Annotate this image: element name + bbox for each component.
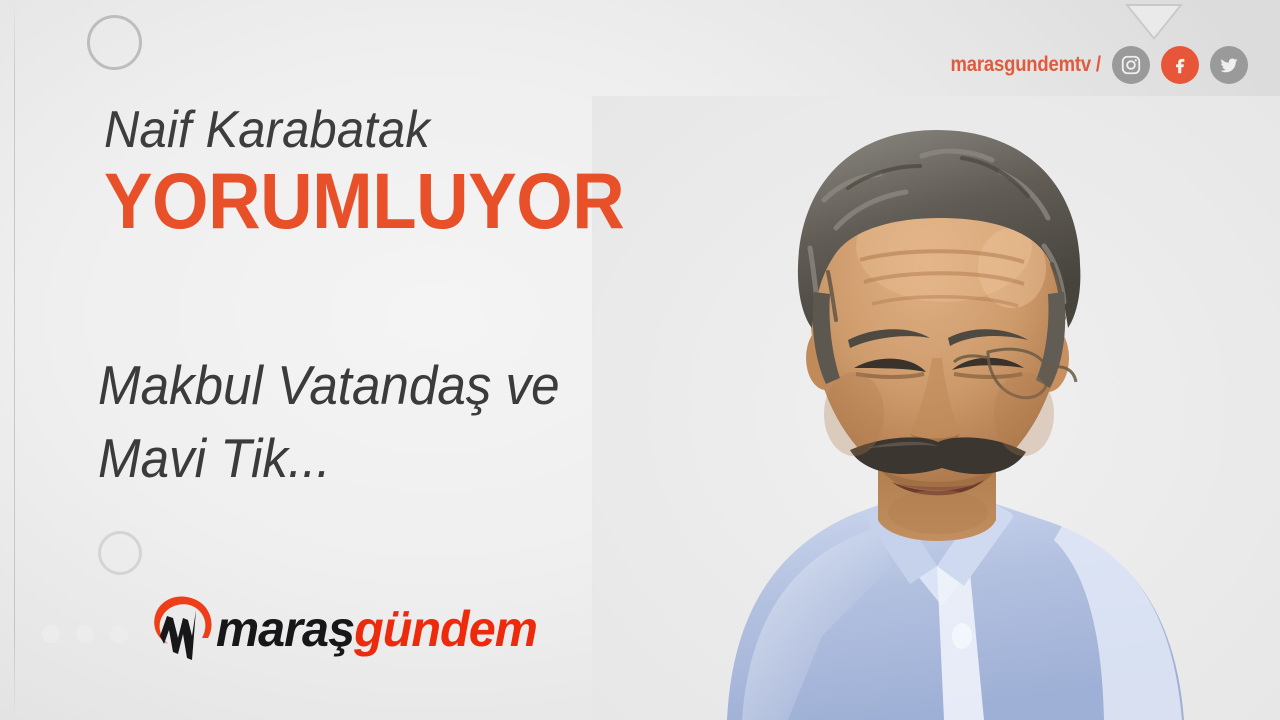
- circle-outline-icon: [98, 531, 142, 575]
- subtitle-line-2: Mavi Tik...: [98, 422, 656, 495]
- facebook-icon[interactable]: [1161, 46, 1199, 84]
- dots-decoration: [42, 625, 128, 643]
- circle-outline-icon: [87, 15, 142, 70]
- logo-mark-icon: [146, 594, 220, 664]
- article-subtitle: Makbul Vatandaş ve Mavi Tik...: [98, 349, 656, 495]
- channel-handle: marasgundemtv /: [951, 53, 1101, 77]
- banner-canvas: marasgundemtv / Naif Karabatak YORUMLUYO…: [0, 0, 1280, 720]
- left-accent-stripe: [14, 0, 15, 720]
- site-logo[interactable]: maraşgündem: [146, 594, 547, 664]
- dot-icon: [42, 625, 60, 643]
- triangle-down-icon: [1125, 4, 1183, 40]
- dot-icon: [110, 625, 128, 643]
- instagram-icon[interactable]: [1112, 46, 1150, 84]
- author-name: Naif Karabatak: [104, 104, 677, 156]
- logo-word-red: gündem: [354, 601, 537, 657]
- subtitle-line-1: Makbul Vatandaş ve: [98, 349, 656, 422]
- twitter-icon[interactable]: [1210, 46, 1248, 84]
- page-title: YORUMLUYOR: [104, 162, 665, 239]
- logo-wordmark: maraşgündem: [216, 604, 537, 654]
- social-bar: marasgundemtv /: [930, 46, 1248, 84]
- headline-block: Naif Karabatak YORUMLUYOR: [104, 104, 714, 239]
- dot-icon: [76, 625, 94, 643]
- logo-word-dark: maraş: [216, 601, 354, 657]
